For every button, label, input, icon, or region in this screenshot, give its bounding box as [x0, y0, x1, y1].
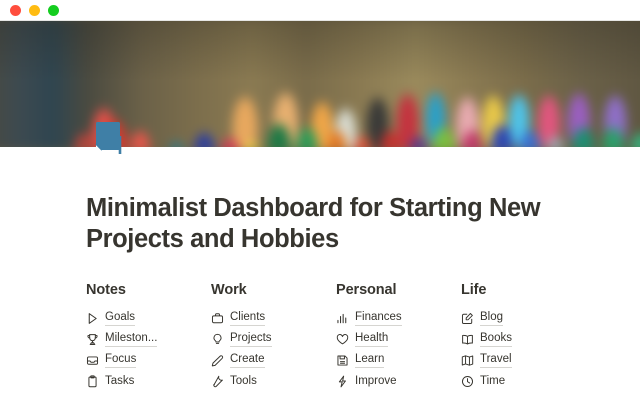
link-item-label: Blog	[480, 311, 503, 326]
link-item-label: Time	[480, 375, 505, 389]
link-item-finances[interactable]: Finances	[336, 308, 461, 329]
briefcase-icon	[211, 312, 224, 325]
cover-image-shade	[0, 21, 640, 81]
link-item-label: Improve	[355, 375, 397, 389]
link-item-label: Health	[355, 332, 388, 347]
close-window-button[interactable]	[10, 5, 21, 16]
link-item-label: Travel	[480, 353, 512, 368]
link-item-label: Learn	[355, 353, 384, 368]
link-item-label: Books	[480, 332, 512, 347]
link-item-label: Goals	[105, 311, 135, 326]
column-personal: Personal Finances	[336, 282, 461, 392]
link-item-clients[interactable]: Clients	[211, 308, 336, 329]
save-disk-icon	[336, 354, 349, 367]
browser-window: Minimalist Dashboard for Starting New Pr…	[0, 0, 640, 400]
link-item-label: Tools	[230, 375, 257, 389]
link-item-milestones[interactable]: Mileston...	[86, 329, 211, 350]
lightbulb-icon	[211, 333, 224, 346]
link-item-label: Focus	[105, 353, 136, 368]
link-item-travel[interactable]: Travel	[461, 350, 586, 371]
link-item-time[interactable]: Time	[461, 371, 586, 392]
trophy-icon	[86, 333, 99, 346]
link-item-create[interactable]: Create	[211, 350, 336, 371]
column-work: Work Clients	[211, 282, 336, 392]
bar-chart-icon	[336, 312, 349, 325]
link-item-label: Clients	[230, 311, 265, 326]
link-item-books[interactable]: Books	[461, 329, 586, 350]
column-life: Life Blog	[461, 282, 586, 392]
link-item-label: Create	[230, 353, 265, 368]
column-header-personal: Personal	[336, 282, 461, 299]
column-notes: Notes Goals	[86, 282, 211, 392]
pencil-square-icon	[461, 312, 474, 325]
link-item-label: Mileston...	[105, 332, 157, 347]
page-icon[interactable]	[94, 120, 132, 160]
column-header-work: Work	[211, 282, 336, 299]
column-header-notes: Notes	[86, 282, 211, 299]
link-item-focus[interactable]: Focus	[86, 350, 211, 371]
link-item-health[interactable]: Health	[336, 329, 461, 350]
open-book-icon	[461, 333, 474, 346]
traffic-light-group	[10, 5, 59, 16]
heart-icon	[336, 333, 349, 346]
column-header-life: Life	[461, 282, 586, 299]
link-item-tools[interactable]: Tools	[211, 371, 336, 392]
map-icon	[461, 354, 474, 367]
link-item-blog[interactable]: Blog	[461, 308, 586, 329]
clock-icon	[461, 375, 474, 388]
link-item-label: Projects	[230, 332, 272, 347]
link-item-improve[interactable]: Improve	[336, 371, 461, 392]
page-content: Minimalist Dashboard for Starting New Pr…	[0, 147, 640, 400]
link-item-label: Tasks	[105, 375, 134, 389]
clipboard-icon	[86, 375, 99, 388]
link-item-label: Finances	[355, 311, 402, 326]
link-item-tasks[interactable]: Tasks	[86, 371, 211, 392]
bolt-icon	[336, 375, 349, 388]
page-title: Minimalist Dashboard for Starting New Pr…	[86, 193, 546, 255]
wrench-icon	[211, 375, 224, 388]
pencil-icon	[211, 354, 224, 367]
minimize-window-button[interactable]	[29, 5, 40, 16]
link-item-goals[interactable]: Goals	[86, 308, 211, 329]
cursor-arrow-icon	[86, 312, 99, 325]
maximize-window-button[interactable]	[48, 5, 59, 16]
window-titlebar	[0, 0, 640, 21]
link-item-learn[interactable]: Learn	[336, 350, 461, 371]
link-item-projects[interactable]: Projects	[211, 329, 336, 350]
link-columns: Notes Goals	[86, 282, 606, 392]
inbox-icon	[86, 354, 99, 367]
